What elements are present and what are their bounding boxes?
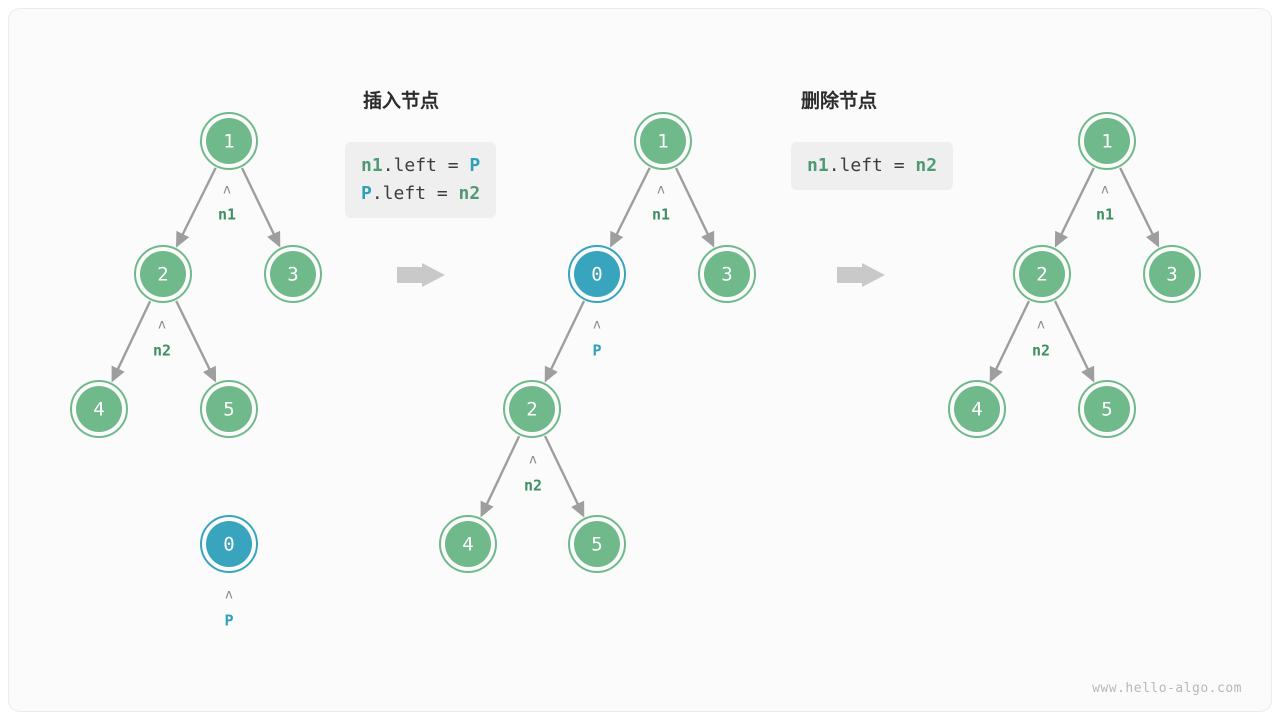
tree-node-label: 5 (1101, 399, 1112, 421)
tree-node: 5 (1079, 381, 1135, 437)
pointer-caret-icon: ʌ (593, 318, 601, 333)
tree-node-label: 2 (157, 264, 168, 286)
tree-edge (1058, 168, 1094, 241)
code-token: n1 (807, 155, 829, 176)
diagram-canvas: 12345010324512345 ʌn1ʌn2ʌPʌn1ʌPʌn2ʌn1ʌn2 (0, 0, 1280, 720)
pointer-label: P (224, 612, 233, 630)
tree-edge (993, 301, 1029, 376)
section-title-insert: 插入节点 (363, 86, 439, 113)
tree-node-label: 4 (462, 534, 473, 556)
flow-arrow-icon (837, 263, 885, 287)
tree-node: 0 (201, 516, 257, 572)
tree-node-label: 3 (721, 264, 732, 286)
tree-node: 3 (265, 246, 321, 302)
tree-edge (176, 301, 213, 376)
edges-layer (115, 168, 1156, 511)
tree-node: 2 (135, 246, 191, 302)
pointer-caret-icon: ʌ (1101, 183, 1109, 198)
tree-node-label: 5 (223, 399, 234, 421)
tree-node-label: 1 (223, 131, 234, 153)
pointer-caret-icon: ʌ (1037, 318, 1045, 333)
tree-node-label: 4 (93, 399, 104, 421)
code-token: P (361, 183, 372, 204)
pointer-label: n1 (218, 206, 236, 224)
pointer-label: n1 (652, 206, 670, 224)
pointer-label: n2 (1032, 342, 1050, 360)
code-token: .left = (829, 155, 916, 176)
tree-node-label: 1 (657, 131, 668, 153)
tree-node-label: 3 (287, 264, 298, 286)
diagram-root: 12345010324512345 ʌn1ʌn2ʌPʌn1ʌPʌn2ʌn1ʌn2… (0, 0, 1280, 720)
tree-node: 0 (569, 246, 625, 302)
tree-node: 3 (699, 246, 755, 302)
section-title-delete: 删除节点 (801, 86, 877, 113)
pointer-label: n2 (524, 477, 542, 495)
tree-edge (676, 168, 711, 241)
tree-node: 1 (201, 113, 257, 169)
tree-node: 3 (1144, 246, 1200, 302)
tree-node: 5 (569, 516, 625, 572)
tree-node-label: 2 (1036, 264, 1047, 286)
pointer-caret-icon: ʌ (223, 183, 231, 198)
tree-edge (1120, 168, 1156, 241)
pointer-caret-icon: ʌ (225, 588, 233, 603)
watermark: www.hello-algo.com (1092, 681, 1242, 696)
tree-edge (613, 168, 649, 241)
pointer-caret-icon: ʌ (529, 453, 537, 468)
tree-node: 1 (635, 113, 691, 169)
code-block-insert: n1.left = P P.left = n2 (345, 142, 496, 218)
code-token: n1 (361, 155, 383, 176)
tree-edge (484, 436, 519, 510)
pointer-caret-icon: ʌ (657, 183, 665, 198)
tree-node: 1 (1079, 113, 1135, 169)
tree-edge (1055, 301, 1091, 376)
tree-node: 2 (504, 381, 560, 437)
tree-node: 2 (1014, 246, 1070, 302)
pointer-label: n2 (153, 342, 171, 360)
tree-node-label: 4 (971, 399, 982, 421)
code-block-delete: n1.left = n2 (791, 142, 953, 190)
pointer-label: n1 (1096, 206, 1114, 224)
nodes-layer: 12345010324512345 (71, 113, 1200, 572)
flow-arrows-layer (397, 263, 885, 287)
pointer-caret-icon: ʌ (158, 318, 166, 333)
pointer-label: P (592, 342, 601, 360)
tree-node-label: 3 (1166, 264, 1177, 286)
tree-node-label: 0 (223, 534, 234, 556)
tree-node: 4 (949, 381, 1005, 437)
tree-node: 4 (71, 381, 127, 437)
tree-node-label: 1 (1101, 131, 1112, 153)
code-token: .left = (372, 183, 459, 204)
code-token: n2 (459, 183, 481, 204)
tree-node: 5 (201, 381, 257, 437)
flow-arrow-icon (397, 263, 445, 287)
code-token: P (469, 155, 480, 176)
tree-edge (115, 301, 150, 375)
tree-edge (548, 301, 584, 376)
tree-node-label: 5 (591, 534, 602, 556)
tree-edge (242, 168, 277, 241)
code-token: .left = (383, 155, 470, 176)
tree-node-label: 2 (526, 399, 537, 421)
tree-node: 4 (440, 516, 496, 572)
tree-edge (545, 436, 581, 511)
code-token: n2 (915, 155, 937, 176)
tree-edge (179, 168, 215, 241)
tree-node-label: 0 (591, 264, 602, 286)
